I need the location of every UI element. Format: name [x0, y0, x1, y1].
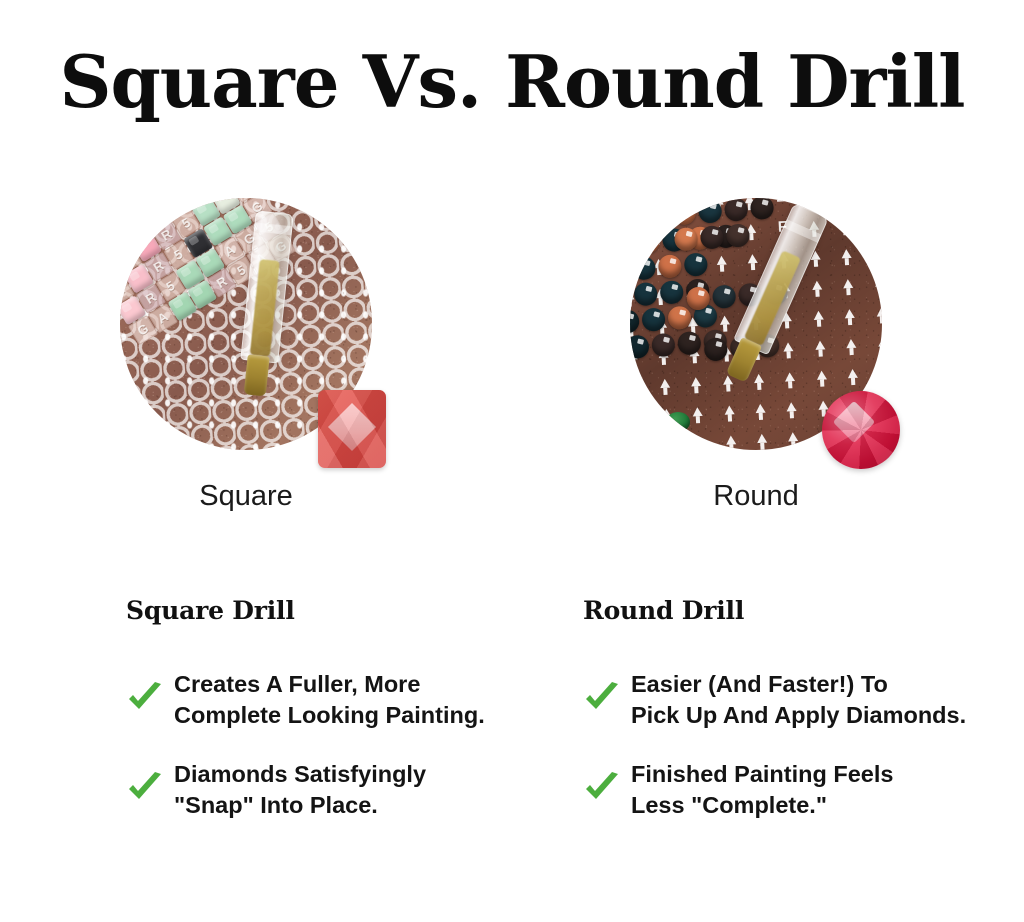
square-drill-heading: Square Drill: [126, 596, 586, 625]
bead-teal: [698, 199, 723, 224]
list-item: Diamonds Satisfyingly "Snap" Into Place.: [126, 759, 586, 821]
pen-wax: [250, 259, 280, 357]
bead-teal: [641, 307, 666, 332]
check-icon: [126, 681, 164, 725]
bead-orange: [657, 254, 682, 279]
round-photo-wrapper: E F: [630, 198, 882, 470]
bead-darkbrown: [699, 225, 724, 250]
pen-band: [254, 222, 293, 235]
bead-teal: [630, 334, 649, 359]
list-item-text: Easier (And Faster!) To Pick Up And Appl…: [631, 669, 966, 731]
bead-orange: [686, 286, 711, 311]
pen-band: [783, 219, 821, 243]
list-item: Creates A Fuller, More Complete Looking …: [126, 669, 586, 731]
square-photo-wrapper: A G A 5 G A R 5: [120, 198, 372, 470]
bead-darkbrown: [703, 337, 728, 362]
square-gem: [318, 390, 386, 468]
bead-teal: [659, 280, 684, 305]
round-column: E F: [512, 190, 1024, 530]
bead-row: [673, 223, 749, 251]
check-icon: [583, 681, 621, 725]
bead-teal: [630, 283, 632, 308]
bead-teal: [633, 282, 658, 307]
list-item: Finished Painting Feels Less "Complete.": [583, 759, 1024, 821]
list-item-text: Creates A Fuller, More Complete Looking …: [174, 669, 485, 731]
comparison-photos-row: A G A 5 G A R 5: [0, 190, 1024, 530]
bead-darkbrown: [651, 332, 676, 357]
check-icon: [583, 771, 621, 815]
bead-darkbrown: [677, 331, 702, 356]
bead-orange: [673, 227, 698, 252]
bead-teal: [646, 203, 671, 228]
bead-darkbrown: [664, 198, 689, 200]
bead-orange: [672, 201, 697, 226]
details-section: Square Drill Creates A Fuller, More Comp…: [0, 596, 1024, 896]
check-icon: [126, 771, 164, 815]
bead-orange: [636, 229, 661, 254]
square-drill-details: Square Drill Creates A Fuller, More Comp…: [126, 596, 586, 849]
bead-green: [666, 412, 690, 432]
square-photo-caption: Square: [120, 480, 372, 513]
list-item-text: Finished Painting Feels Less "Complete.": [631, 759, 893, 821]
round-drill-heading: Round Drill: [583, 596, 1024, 625]
bead-teal: [630, 309, 640, 334]
bead-orange: [638, 198, 663, 202]
bead-darkbrown: [723, 198, 748, 222]
round-gem: [822, 391, 900, 469]
bead-teal: [712, 284, 737, 309]
bead-darkbrown: [725, 223, 750, 248]
pen-tip: [244, 354, 270, 396]
round-drill-details: Round Drill Easier (And Faster!) To Pick…: [583, 596, 1024, 849]
bead-teal: [683, 252, 708, 277]
round-photo-caption: Round: [630, 480, 882, 513]
list-item-text: Diamonds Satisfyingly "Snap" Into Place.: [174, 759, 426, 821]
square-column: A G A 5 G A R 5: [0, 190, 512, 530]
bead-orange: [630, 204, 644, 229]
bead-teal: [631, 256, 656, 281]
bead-darkbrown: [749, 198, 774, 220]
bead-teal: [630, 231, 634, 256]
list-item: Easier (And Faster!) To Pick Up And Appl…: [583, 669, 1024, 731]
bead-orange: [630, 198, 636, 203]
page-title: Square Vs. Round Drill: [0, 46, 1024, 118]
